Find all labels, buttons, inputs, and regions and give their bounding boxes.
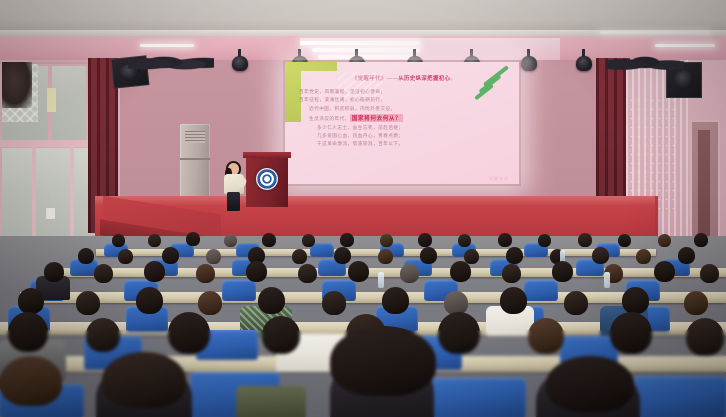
slide-title-dash: ——: [387, 76, 399, 82]
audience-head: [86, 318, 120, 352]
water-bottle: [604, 272, 610, 288]
audience-head: [564, 291, 588, 315]
slide-line: 多少仁人志士，舍生忘死，前赴后继；: [299, 125, 509, 131]
slide-line: 近代中国，积贫积弱，内忧外患交迫，: [299, 106, 509, 112]
audience-head: [418, 233, 432, 247]
slide-line: 百年党史，风雨兼程，见证初心使命；: [299, 89, 509, 95]
lecture-hall-photo: 《觉醒年代》——从历史纵深把握初心。 百年党史，风雨兼程，见证初心使命； 百年征…: [0, 0, 726, 417]
audience-head: [246, 261, 267, 282]
slide-title-end: 。: [450, 76, 456, 82]
spotlight-cluster-right: [606, 52, 684, 78]
audience-head-foreground: [0, 356, 62, 406]
audience-head: [592, 247, 609, 264]
audience-head: [322, 291, 346, 315]
window-pane: [52, 66, 86, 146]
ac-seam: [180, 158, 210, 160]
audience-head-foreground: [102, 352, 186, 408]
presenter: [221, 163, 247, 211]
audience-head: [578, 233, 592, 247]
audience-body: [236, 386, 306, 417]
audience-head: [8, 312, 48, 352]
audience-head: [136, 287, 163, 314]
audience-head: [112, 234, 125, 247]
slide-signature: 觉醒年代: [489, 176, 509, 182]
podium-emblem-icon: [256, 168, 278, 190]
slide-line: 几多爱国心血，热血丹心，青春点燃；: [299, 133, 509, 139]
seat: [634, 376, 726, 417]
audience-head: [94, 264, 113, 283]
spotlight-cluster-left: [128, 52, 214, 78]
audience-head: [224, 234, 237, 247]
audience-head: [528, 318, 564, 354]
audience-head: [262, 233, 276, 247]
audience-head: [694, 233, 708, 247]
audience-head: [500, 287, 527, 314]
ceiling: [0, 0, 726, 34]
water-bottle: [378, 272, 384, 288]
audience-head: [498, 233, 512, 247]
audience-head: [684, 291, 708, 315]
slide-line: 百年征程，波澜壮阔，初心砥砺前行。: [299, 97, 509, 103]
audience-head: [622, 287, 649, 314]
audience-head: [552, 261, 573, 282]
audience-head: [334, 247, 351, 264]
audience-head: [636, 249, 651, 264]
audience-head: [700, 264, 719, 283]
presenter-legs: [227, 192, 240, 211]
audience-head: [168, 312, 210, 354]
audience-head: [348, 261, 369, 282]
audience-head: [340, 233, 354, 247]
audience-head: [382, 287, 409, 314]
audience-head: [654, 261, 675, 282]
spotlight-icon: [521, 56, 537, 71]
audience-head: [438, 312, 480, 354]
fluorescent-tube-icon: [312, 48, 420, 52]
projection-screen: 《觉醒年代》——从历史纵深把握初心。 百年党史，风雨兼程，见证初心使命； 百年征…: [285, 62, 519, 184]
audience-head: [262, 316, 300, 354]
audience-head: [44, 262, 64, 282]
slide-title-prefix: 《觉醒年代》: [352, 76, 387, 82]
audience-head: [458, 234, 471, 247]
spotlight-icon: [576, 56, 592, 71]
audience-head: [506, 247, 523, 264]
audience-head: [298, 264, 317, 283]
window-notice: [47, 88, 56, 112]
audience-head: [196, 264, 215, 283]
audience-head: [400, 264, 419, 283]
audience-head: [258, 287, 285, 314]
fluorescent-tube-icon: [140, 44, 194, 47]
podium-top: [243, 152, 291, 158]
audience-head: [18, 288, 44, 314]
audience-head-foreground: [546, 356, 634, 412]
audience-head: [186, 232, 200, 246]
fluorescent-tube-icon: [655, 44, 715, 47]
audience-head: [292, 249, 307, 264]
audience-head: [678, 247, 695, 264]
slide-highlight: 国家将何去何从？: [350, 114, 404, 122]
seat: [430, 378, 526, 417]
fluorescent-tube-icon: [318, 55, 414, 59]
slide-line: 于这革命激流，劈波斩浪，百年以下。: [299, 141, 509, 147]
audience-head: [302, 234, 315, 247]
slide-olive-band-top: [285, 62, 337, 71]
audience-head: [198, 291, 222, 315]
seat: [310, 243, 334, 257]
audience-head: [686, 318, 724, 356]
audience-head: [610, 312, 652, 354]
fluorescent-tube-icon: [300, 41, 420, 45]
audience-head: [502, 264, 521, 283]
seat: [524, 280, 558, 301]
ac-grille-icon: [185, 131, 205, 143]
audience-head: [420, 247, 437, 264]
seat: [222, 280, 256, 301]
audience-head: [118, 249, 133, 264]
audience-head: [450, 261, 471, 282]
audience-head: [206, 249, 221, 264]
presentation-slide: 《觉醒年代》——从历史纵深把握初心。 百年党史，风雨兼程，见证初心使命； 百年征…: [285, 62, 519, 184]
audience-head: [148, 234, 161, 247]
fluorescent-tube-icon: [600, 31, 710, 34]
audience-head: [378, 249, 393, 264]
window-sill-object: [46, 208, 55, 219]
audience-head: [380, 234, 393, 247]
slide-line-lead: 生灵涂炭的年代，: [309, 116, 350, 121]
slide-title: 《觉醒年代》——从历史纵深把握初心。: [299, 74, 509, 82]
audience-head: [538, 234, 551, 247]
slide-line-with-highlight: 生灵涂炭的年代，国家将何去何从？: [299, 114, 509, 122]
air-conditioner: [180, 124, 210, 206]
slide-text-body: 《觉醒年代》——从历史纵深把握初心。 百年党史，风雨兼程，见证初心使命； 百年征…: [299, 74, 509, 176]
audience-head: [144, 261, 165, 282]
audience-head: [78, 248, 94, 264]
slide-title-highlight: 从历史纵深把握初心: [398, 76, 450, 82]
window-clutter: [2, 62, 32, 108]
audience-head: [162, 247, 179, 264]
spotlight-icon: [232, 56, 248, 71]
audience-head: [658, 234, 671, 247]
audience-head-foreground: [330, 326, 436, 396]
audience-head: [618, 234, 631, 247]
audience-head: [76, 291, 100, 315]
